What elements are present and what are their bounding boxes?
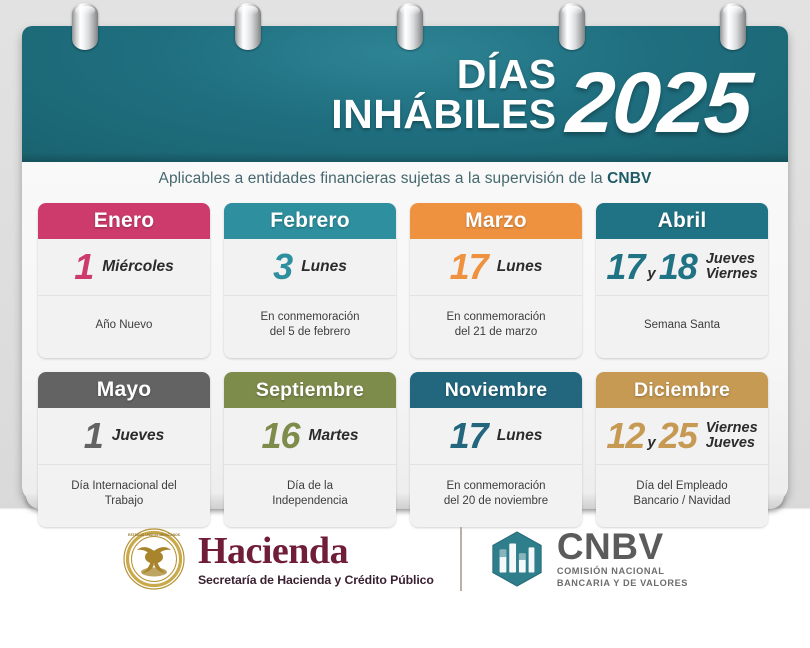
weekday-label: Viernes — [706, 267, 758, 282]
note-text: Semana Santa — [644, 318, 720, 333]
month-card-days: 1Miércoles — [38, 239, 210, 296]
month-card: Abril17y18JuevesViernesSemana Santa — [596, 203, 768, 358]
note-line: Día del Empleado — [633, 479, 730, 494]
month-name: Noviembre — [445, 379, 548, 402]
hacienda-subtitle: Secretaría de Hacienda y Crédito Público — [198, 573, 434, 587]
month-card: Diciembre12y25ViernesJuevesDía del Emple… — [596, 372, 768, 527]
day-conjunction: y — [647, 434, 655, 451]
month-card-header: Septiembre — [224, 372, 396, 408]
title-line-dias: DÍAS — [457, 56, 557, 94]
day-numbers: 12y25ViernesJueves — [606, 418, 757, 454]
note-line: Independencia — [272, 494, 347, 509]
svg-text:ESTADOS UNIDOS MEXICANOS: ESTADOS UNIDOS MEXICANOS — [128, 533, 180, 537]
month-card-header: Enero — [38, 203, 210, 239]
title-stack: DÍAS INHÁBILES — [331, 56, 556, 139]
subtitle: Aplicables a entidades financieras sujet… — [0, 170, 810, 188]
day-numbers: 16Martes — [261, 418, 358, 454]
day-number: 17 — [606, 249, 644, 285]
note-line: En conmemoración — [260, 310, 359, 325]
day-number: 1 — [74, 249, 93, 285]
month-card-note: En conmemoracióndel 20 de noviembre — [410, 465, 582, 527]
month-name: Marzo — [465, 209, 527, 233]
month-card: Febrero3LunesEn conmemoracióndel 5 de fe… — [224, 203, 396, 358]
day-numbers: 1Miércoles — [74, 249, 174, 285]
weekday-labels: Martes — [309, 428, 359, 444]
weekday-labels: ViernesJueves — [706, 421, 758, 452]
month-card-header: Diciembre — [596, 372, 768, 408]
month-card-note: Día Internacional delTrabajo — [38, 465, 210, 527]
weekday-label: Jueves — [706, 436, 758, 451]
mexican-eagle-seal-icon: ESTADOS UNIDOS MEXICANOS — [122, 527, 186, 591]
weekday-label: Lunes — [497, 259, 543, 275]
month-card: Enero1MiércolesAño Nuevo — [38, 203, 210, 358]
month-card: Mayo1JuevesDía Internacional delTrabajo — [38, 372, 210, 527]
note-text: En conmemoracióndel 21 de marzo — [446, 310, 545, 340]
month-card-note: En conmemoracióndel 5 de febrero — [224, 296, 396, 358]
day-conjunction: y — [647, 265, 655, 282]
day-number: 1 — [84, 418, 103, 454]
hacienda-text: Hacienda Secretaría de Hacienda y Crédit… — [198, 532, 434, 587]
note-line: Día Internacional del — [71, 479, 176, 494]
day-number: 17 — [450, 418, 488, 454]
month-card-days: 16Martes — [224, 408, 396, 465]
note-text: Día Internacional delTrabajo — [71, 479, 176, 509]
day-numbers: 17y18JuevesViernes — [606, 249, 757, 285]
weekday-labels: Miércoles — [102, 259, 174, 275]
note-line: Bancario / Navidad — [633, 494, 730, 509]
day-number: 25 — [659, 418, 697, 454]
weekday-label: Viernes — [706, 421, 758, 436]
month-card-days: 12y25ViernesJueves — [596, 408, 768, 465]
month-card: Marzo17LunesEn conmemoracióndel 21 de ma… — [410, 203, 582, 358]
weekday-labels: Lunes — [497, 259, 543, 275]
cnbv-subtitle: COMISIÓN NACIONAL BANCARIA Y DE VALORES — [557, 566, 688, 589]
note-line: Año Nuevo — [96, 318, 153, 333]
cnbv-title: CNBV — [557, 529, 688, 564]
note-line: del 21 de marzo — [446, 325, 545, 340]
note-line: Trabajo — [71, 494, 176, 509]
day-numbers: 1Jueves — [84, 418, 165, 454]
month-card-days: 17y18JuevesViernes — [596, 239, 768, 296]
ring-binder-5 — [720, 3, 746, 50]
footer-logos: ESTADOS UNIDOS MEXICANOS Hacienda Secret… — [0, 527, 810, 591]
weekday-labels: Jueves — [112, 428, 165, 444]
note-line: Semana Santa — [644, 318, 720, 333]
hacienda-logo: ESTADOS UNIDOS MEXICANOS Hacienda Secret… — [122, 527, 434, 591]
note-text: Día del EmpleadoBancario / Navidad — [633, 479, 730, 509]
month-card-days: 3Lunes — [224, 239, 396, 296]
weekday-label: Jueves — [112, 428, 165, 444]
note-text: En conmemoracióndel 5 de febrero — [260, 310, 359, 340]
month-name: Febrero — [270, 209, 350, 233]
cnbv-subtitle-line1: COMISIÓN NACIONAL — [557, 566, 688, 578]
title-block: DÍAS INHÁBILES 2025 — [331, 56, 750, 139]
day-number: 18 — [659, 249, 697, 285]
subtitle-emphasis: CNBV — [607, 170, 651, 187]
month-card: Septiembre16MartesDía de laIndependencia — [224, 372, 396, 527]
note-text: En conmemoracióndel 20 de noviembre — [444, 479, 548, 509]
cnbv-logo: CNBV COMISIÓN NACIONAL BANCARIA Y DE VAL… — [488, 529, 688, 589]
note-line: Día de la — [272, 479, 347, 494]
month-card-note: Día de laIndependencia — [224, 465, 396, 527]
weekday-labels: JuevesViernes — [706, 252, 758, 283]
note-line: del 20 de noviembre — [444, 494, 548, 509]
note-line: En conmemoración — [444, 479, 548, 494]
note-text: Año Nuevo — [96, 318, 153, 333]
month-card-header: Marzo — [410, 203, 582, 239]
ring-binder-4 — [559, 3, 585, 50]
note-line: del 5 de febrero — [260, 325, 359, 340]
day-number: 12 — [606, 418, 644, 454]
month-name: Septiembre — [256, 379, 364, 402]
day-numbers: 3Lunes — [273, 249, 347, 285]
poster-background: DÍAS INHÁBILES 2025 Aplicables a entidad… — [0, 0, 810, 648]
weekday-label: Jueves — [706, 252, 758, 267]
month-card-header: Mayo — [38, 372, 210, 408]
month-card-grid: Enero1MiércolesAño NuevoFebrero3LunesEn … — [38, 203, 772, 527]
month-card-note: En conmemoracióndel 21 de marzo — [410, 296, 582, 358]
month-card-header: Febrero — [224, 203, 396, 239]
day-number: 16 — [261, 418, 299, 454]
month-card-note: Día del EmpleadoBancario / Navidad — [596, 465, 768, 527]
month-card-note: Semana Santa — [596, 296, 768, 358]
cnbv-text: CNBV COMISIÓN NACIONAL BANCARIA Y DE VAL… — [557, 529, 688, 589]
note-text: Día de laIndependencia — [272, 479, 347, 509]
day-numbers: 17Lunes — [450, 418, 543, 454]
weekday-label: Lunes — [497, 428, 543, 444]
month-card-days: 1Jueves — [38, 408, 210, 465]
month-name: Abril — [658, 209, 707, 233]
day-number: 3 — [273, 249, 292, 285]
month-name: Mayo — [97, 378, 151, 402]
ring-binder-1 — [72, 3, 98, 50]
weekday-label: Lunes — [301, 259, 347, 275]
cnbv-hexagon-icon — [488, 530, 546, 588]
ring-binder-3 — [397, 3, 423, 50]
hacienda-title: Hacienda — [198, 532, 434, 570]
month-card-days: 17Lunes — [410, 239, 582, 296]
subtitle-text: Aplicables a entidades financieras sujet… — [159, 170, 608, 187]
ring-binder-2 — [235, 3, 261, 50]
month-card-header: Noviembre — [410, 372, 582, 408]
month-card-header: Abril — [596, 203, 768, 239]
weekday-labels: Lunes — [301, 259, 347, 275]
logo-divider — [460, 527, 462, 591]
month-card: Noviembre17LunesEn conmemoracióndel 20 d… — [410, 372, 582, 527]
month-card-days: 17Lunes — [410, 408, 582, 465]
title-line-inhabiles: INHÁBILES — [331, 96, 556, 134]
month-name: Enero — [94, 209, 155, 233]
title-year: 2025 — [564, 67, 752, 139]
month-name: Diciembre — [634, 379, 730, 402]
month-card-note: Año Nuevo — [38, 296, 210, 358]
weekday-labels: Lunes — [497, 428, 543, 444]
cnbv-subtitle-line2: BANCARIA Y DE VALORES — [557, 578, 688, 590]
day-number: 17 — [450, 249, 488, 285]
weekday-label: Miércoles — [102, 259, 174, 275]
note-line: En conmemoración — [446, 310, 545, 325]
day-numbers: 17Lunes — [450, 249, 543, 285]
weekday-label: Martes — [309, 428, 359, 444]
